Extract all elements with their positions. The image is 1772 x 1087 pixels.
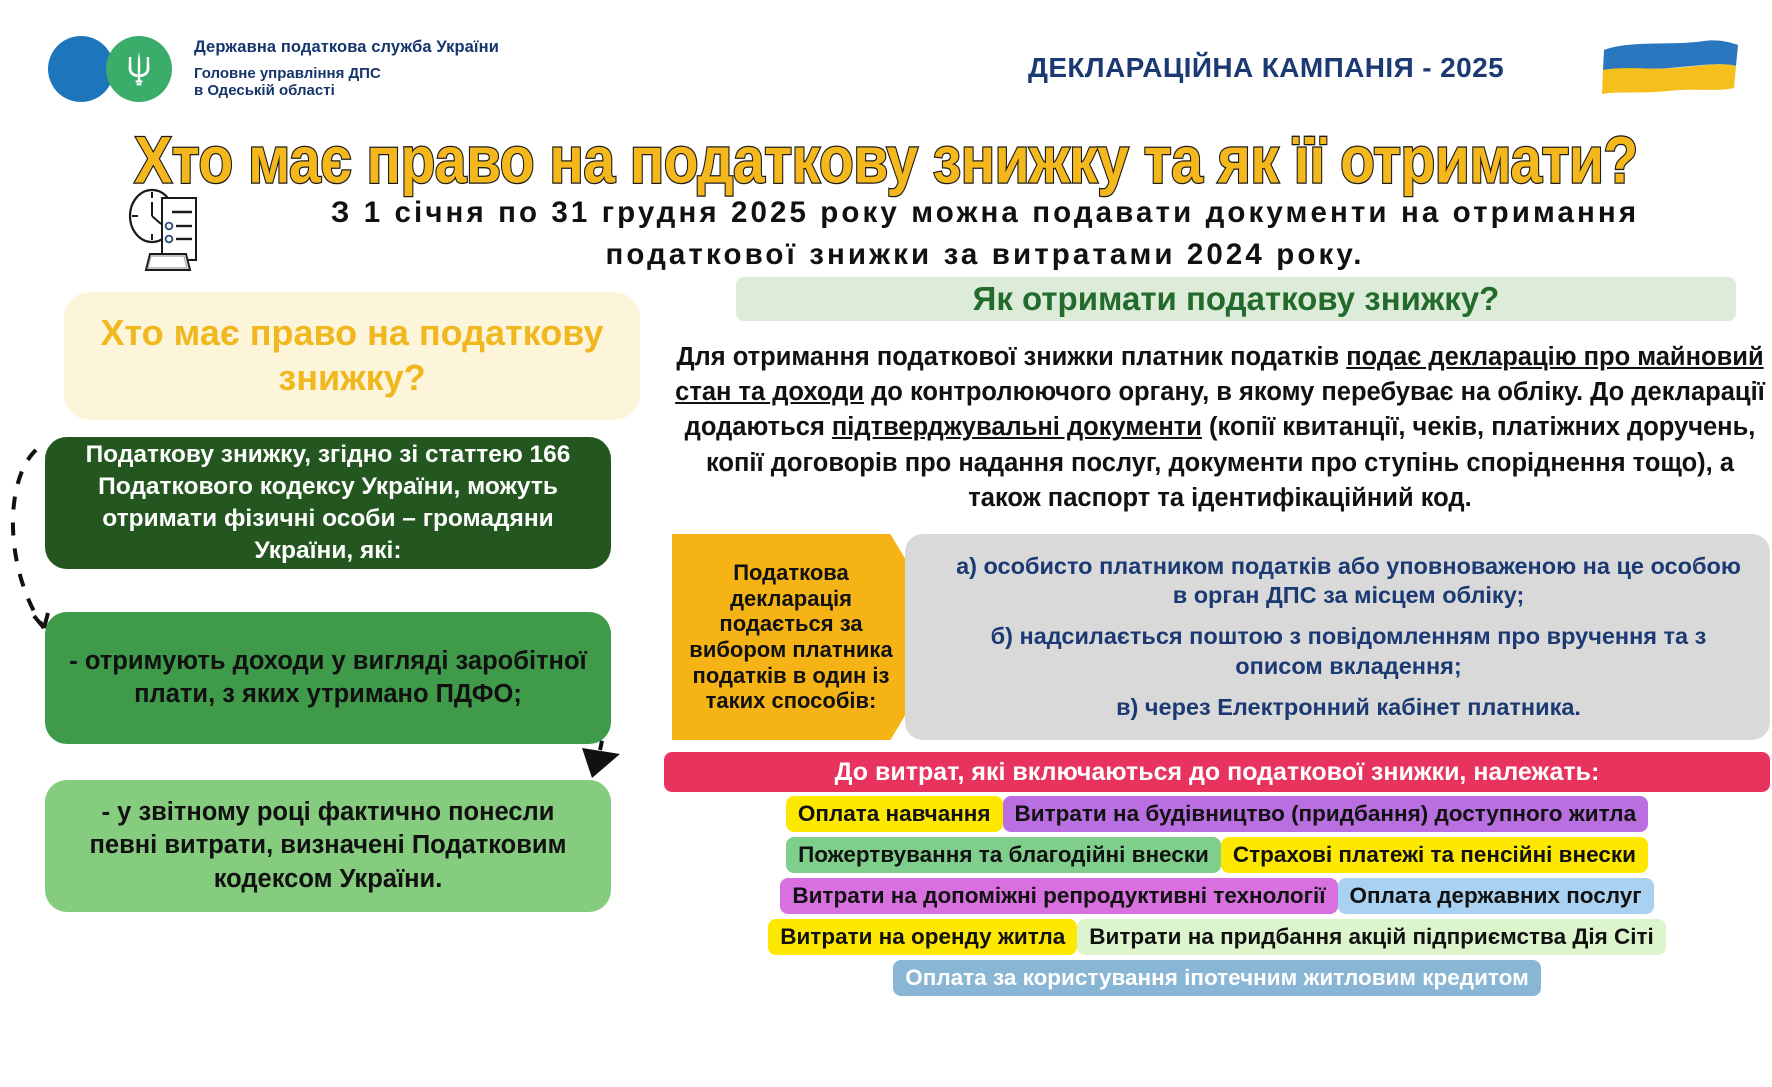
right-section-heading: Як отримати податкову знижку? xyxy=(736,277,1736,321)
right-paragraph: Для отримання податкової знижки платник … xyxy=(670,340,1770,516)
page-header: Державна податкова служба України Головн… xyxy=(0,0,1772,118)
dps-logo: Державна податкова служба України Головн… xyxy=(48,36,499,102)
expenses-tag-row: Витрати на допоміжні репродуктивні техно… xyxy=(664,878,1770,914)
ukraine-flag-icon xyxy=(1600,36,1740,98)
expenses-heading: До витрат, які включаються до податкової… xyxy=(664,752,1770,792)
expense-tag[interactable]: Страхові платежі та пенсійні внески xyxy=(1221,837,1648,873)
page-title: Хто має право на податкову знижку та як … xyxy=(0,122,1772,199)
clock-document-icon xyxy=(120,186,230,272)
expense-tag[interactable]: Витрати на оренду житла xyxy=(768,919,1077,955)
method-item-c: в) через Електронний кабінет платника. xyxy=(947,693,1750,722)
expenses-tag-row: Пожертвування та благодійні внескиСтрахо… xyxy=(664,837,1770,873)
expense-tag[interactable]: Оплата державних послуг xyxy=(1338,878,1654,914)
expense-tag[interactable]: Пожертвування та благодійні внески xyxy=(786,837,1221,873)
paragraph-underlined-run-3: підтверджувальні документи xyxy=(832,413,1202,441)
expenses-tag-row: Оплата за користування іпотечним житлови… xyxy=(664,960,1770,996)
expense-tag[interactable]: Витрати на допоміжні репродуктивні техно… xyxy=(780,878,1337,914)
expense-tag[interactable]: Оплата за користування іпотечним житлови… xyxy=(893,960,1540,996)
expense-tag[interactable]: Витрати на придбання акцій підприємства … xyxy=(1077,919,1666,955)
green-circle-trident-icon xyxy=(106,36,172,102)
left-box-1: Податкову знижку, згідно зі статтею 166 … xyxy=(45,437,611,569)
org-name-line1: Державна податкова служба України xyxy=(194,38,499,57)
logo-text-block: Державна податкова служба України Головн… xyxy=(194,38,499,100)
expense-tag[interactable]: Оплата навчання xyxy=(786,796,1003,832)
expenses-tag-list: Оплата навчанняВитрати на будівництво (п… xyxy=(664,796,1770,1001)
left-section-heading: Хто має право на податкову знижку? xyxy=(64,292,640,420)
infographic-poster: Державна податкова служба України Головн… xyxy=(0,0,1772,1087)
logo-circles xyxy=(48,36,180,102)
org-name-line2: Головне управління ДПСв Одеській області xyxy=(194,66,499,100)
expenses-tag-row: Витрати на оренду житлаВитрати на придба… xyxy=(664,919,1770,955)
submission-methods-box: а) особисто платником податків або уповн… xyxy=(905,534,1770,740)
left-box-2: - отримують доходи у вигляді заробітної … xyxy=(45,612,611,744)
trident-icon xyxy=(125,51,153,87)
blue-circle-icon xyxy=(48,36,114,102)
expense-tag[interactable]: Витрати на будівництво (придбання) досту… xyxy=(1003,796,1649,832)
left-box-3: - у звітному році фактично понесли певні… xyxy=(45,780,611,912)
method-item-a: а) особисто платником податків або уповн… xyxy=(947,552,1750,611)
page-subtitle: З 1 січня по 31 грудня 2025 року можна п… xyxy=(250,192,1720,276)
expenses-tag-row: Оплата навчанняВитрати на будівництво (п… xyxy=(664,796,1770,832)
paragraph-run-0: Для отримання податкової знижки платник … xyxy=(676,343,1346,371)
method-item-b: б) надсилається поштою з повідомленням п… xyxy=(947,622,1750,681)
campaign-title: ДЕКЛАРАЦІЙНА КАМПАНІЯ - 2025 xyxy=(1028,52,1504,84)
